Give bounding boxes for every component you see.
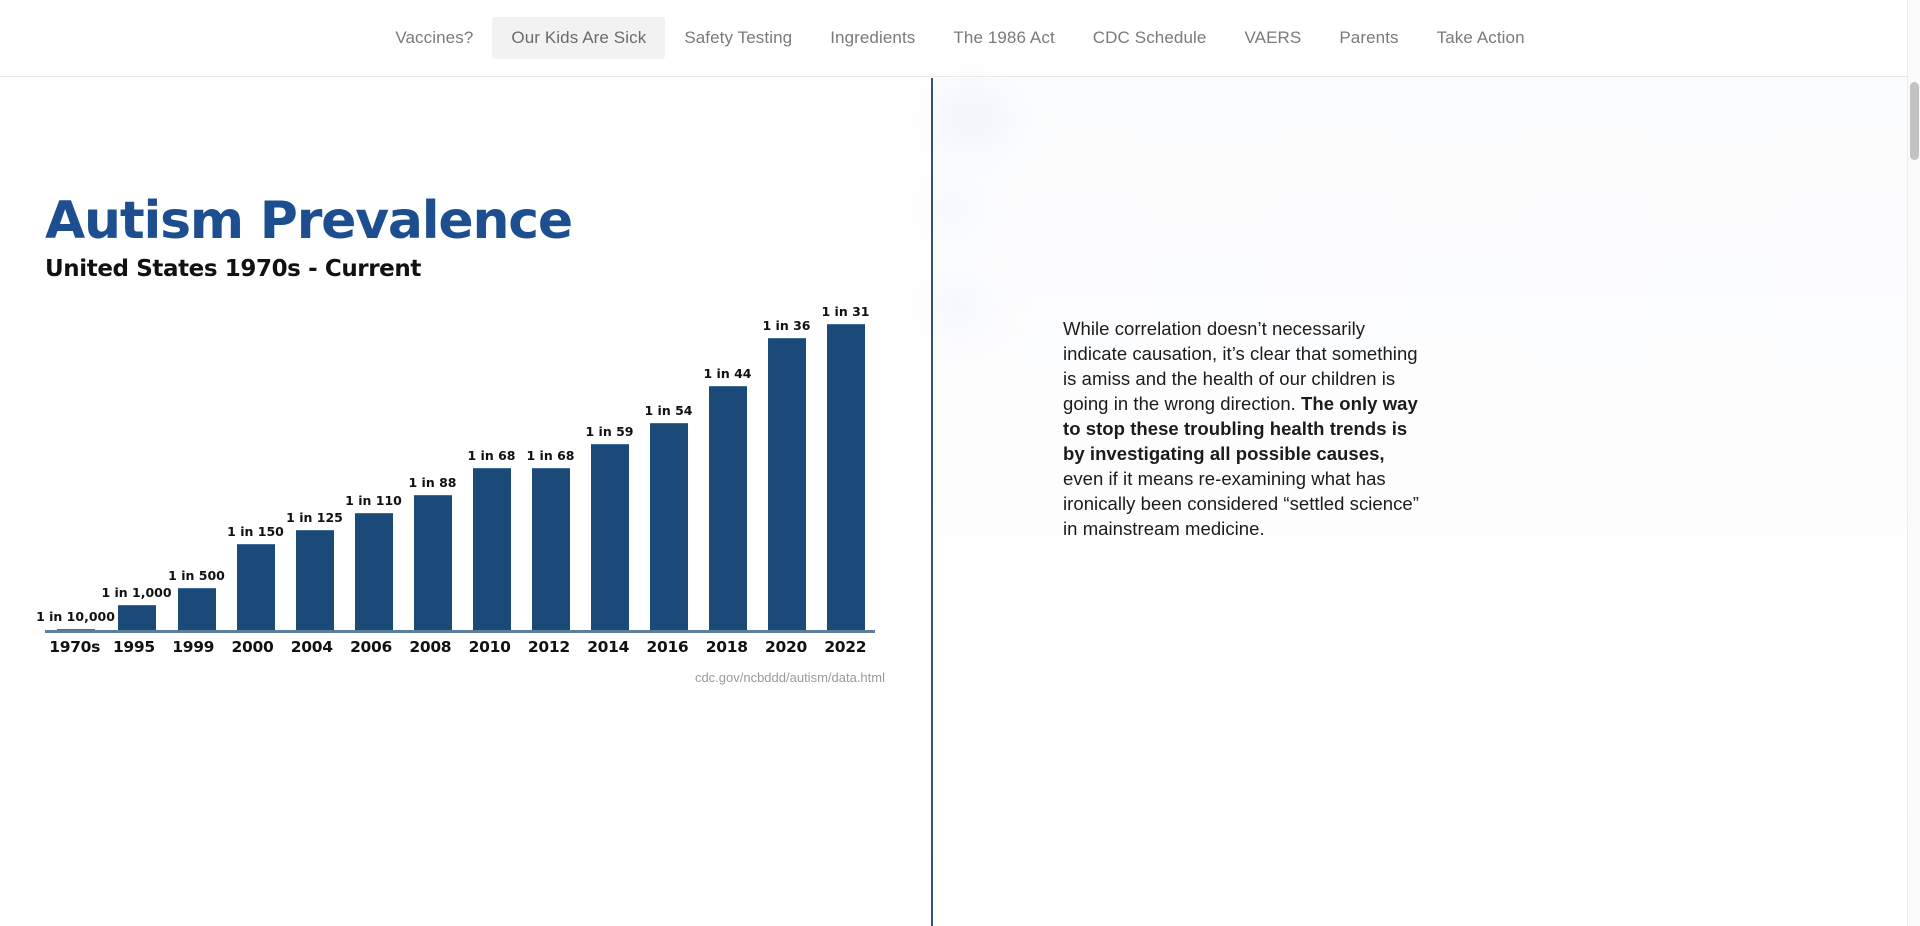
bar-value-label: 1 in 31 [822, 304, 870, 319]
bar [827, 324, 865, 630]
bar-group: 1 in 68 [521, 304, 580, 630]
x-axis-tick-label: 2020 [756, 638, 815, 656]
commentary-paragraph: While correlation doesn’t necessarily in… [1063, 316, 1427, 541]
bar-group: 1 in 44 [698, 304, 757, 630]
bar-group: 1 in 68 [462, 304, 521, 630]
chart-plot-area: 1 in 10,0001 in 1,0001 in 5001 in 1501 i… [45, 304, 875, 630]
bar [768, 338, 806, 630]
note-text-part2: even if it means re-examining what has i… [1063, 468, 1419, 539]
bar-group: 1 in 10,000 [45, 304, 106, 630]
bar-value-label: 1 in 88 [409, 475, 457, 490]
bar [591, 444, 629, 630]
bar-value-label: 1 in 59 [586, 424, 634, 439]
nav-item-take-action[interactable]: Take Action [1418, 17, 1544, 59]
bar-value-label: 1 in 54 [645, 403, 693, 418]
chart-title: Autism Prevalence [45, 195, 890, 247]
bar-value-label: 1 in 110 [345, 493, 402, 508]
x-axis-line [45, 630, 875, 633]
bar [650, 423, 688, 630]
x-axis-tick-label: 2004 [282, 638, 341, 656]
autism-prevalence-chart: Autism Prevalence United States 1970s - … [45, 195, 890, 685]
bar-group: 1 in 1,000 [106, 304, 167, 630]
nav-item-vaccines[interactable]: Vaccines? [376, 17, 492, 59]
top-navigation-bar: Vaccines?Our Kids Are SickSafety Testing… [0, 0, 1920, 77]
panel-divider [931, 78, 933, 926]
bar [709, 386, 747, 630]
bar [532, 468, 570, 630]
bar-series: 1 in 10,0001 in 1,0001 in 5001 in 1501 i… [45, 304, 875, 630]
nav-item-safety-testing[interactable]: Safety Testing [665, 17, 811, 59]
x-axis-tick-label: 2008 [401, 638, 460, 656]
decorative-blob [928, 286, 988, 328]
x-axis-ticks: 1970s19951999200020042006200820102012201… [45, 638, 875, 656]
x-axis-tick-label: 2000 [223, 638, 282, 656]
chart-subtitle: United States 1970s - Current [45, 256, 890, 282]
bar [237, 544, 275, 630]
bar-group: 1 in 150 [226, 304, 285, 630]
x-axis-tick-label: 2022 [816, 638, 875, 656]
nav-item-vaers[interactable]: VAERS [1225, 17, 1320, 59]
x-axis-tick-label: 2014 [579, 638, 638, 656]
bar-group: 1 in 59 [580, 304, 639, 630]
bar-group: 1 in 31 [816, 304, 875, 630]
bar [178, 588, 216, 630]
bar-value-label: 1 in 68 [527, 448, 575, 463]
decorative-blob [934, 90, 1012, 148]
x-axis-tick-label: 1995 [104, 638, 163, 656]
page-scrollbar-thumb[interactable] [1910, 82, 1919, 160]
bar-value-label: 1 in 36 [763, 318, 811, 333]
bar-value-label: 1 in 500 [168, 568, 225, 583]
page-scrollbar-track[interactable] [1907, 0, 1920, 926]
bar-value-label: 1 in 44 [704, 366, 752, 381]
bar [296, 530, 334, 630]
bar-value-label: 1 in 150 [227, 524, 284, 539]
x-axis-tick-label: 2018 [697, 638, 756, 656]
bar-group: 1 in 36 [757, 304, 816, 630]
nav-item-cdc-schedule[interactable]: CDC Schedule [1074, 17, 1226, 59]
decorative-blob [930, 186, 974, 230]
x-axis-tick-label: 2016 [638, 638, 697, 656]
bar-value-label: 1 in 1,000 [101, 585, 171, 600]
x-axis-tick-label: 2006 [341, 638, 400, 656]
x-axis-tick-label: 1999 [164, 638, 223, 656]
bar-value-label: 1 in 10,000 [36, 609, 115, 624]
page-content: Autism Prevalence United States 1970s - … [0, 78, 1920, 926]
bar-group: 1 in 88 [403, 304, 462, 630]
bar [473, 468, 511, 630]
x-axis-tick-label: 2012 [519, 638, 578, 656]
bar [355, 513, 393, 630]
bar-value-label: 1 in 125 [286, 510, 343, 525]
bar [414, 495, 452, 630]
x-axis-tick-label: 2010 [460, 638, 519, 656]
nav-list: Vaccines?Our Kids Are SickSafety Testing… [376, 17, 1543, 59]
bar-group: 1 in 125 [285, 304, 344, 630]
nav-item-the-1986-act[interactable]: The 1986 Act [934, 17, 1073, 59]
bar [118, 605, 156, 630]
bar-group: 1 in 500 [167, 304, 226, 630]
nav-item-parents[interactable]: Parents [1320, 17, 1417, 59]
bar-group: 1 in 110 [344, 304, 403, 630]
bar-value-label: 1 in 68 [468, 448, 516, 463]
x-axis-tick-label: 1970s [45, 638, 104, 656]
chart-source-citation: cdc.gov/ncbddd/autism/data.html [45, 670, 885, 685]
nav-item-our-kids-are-sick[interactable]: Our Kids Are Sick [492, 17, 665, 59]
nav-item-ingredients[interactable]: Ingredients [811, 17, 934, 59]
bar-group: 1 in 54 [639, 304, 698, 630]
